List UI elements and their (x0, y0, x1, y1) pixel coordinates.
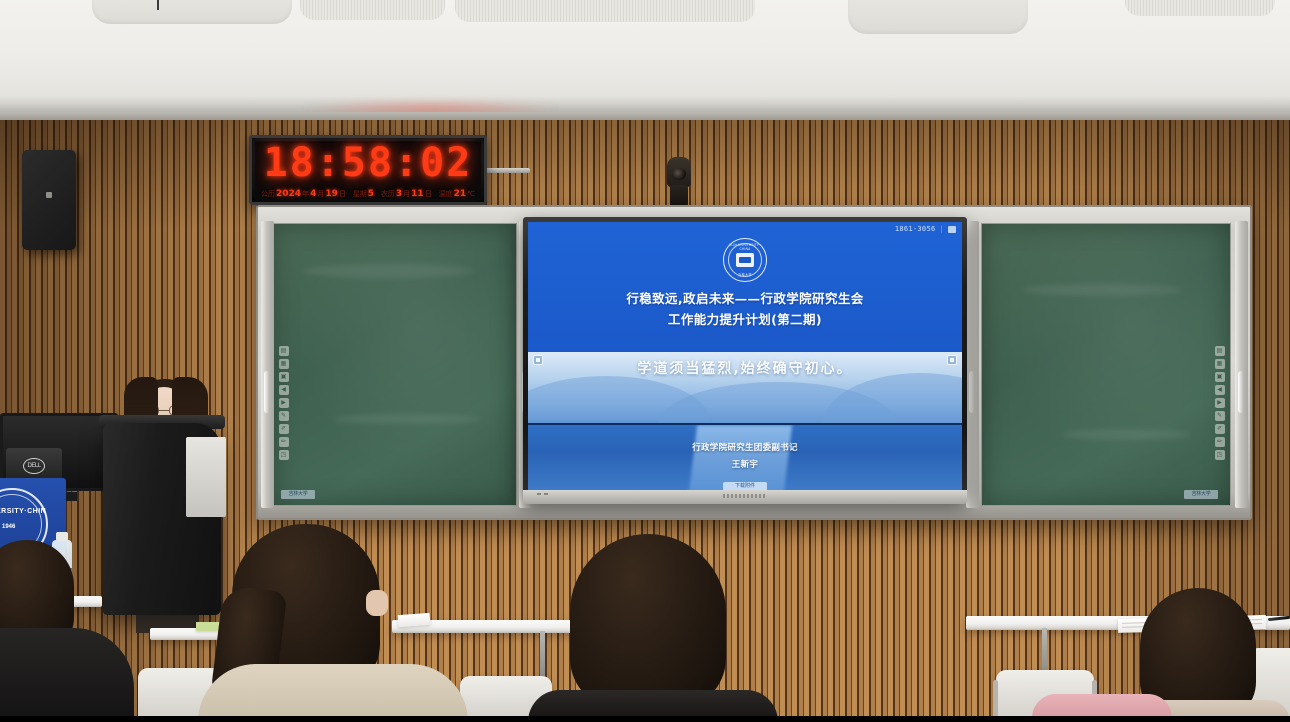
clock-weekday-label: 星期 (353, 189, 367, 199)
board-tool-icon-4[interactable]: ▶ (1215, 398, 1225, 408)
clock-display-panel: 18:58:02 公历 2024 年 4 月 19 日 星期 5 农历 3 (255, 141, 481, 199)
mountain-ridge (823, 373, 962, 424)
slide-title: 行稳致远,政启未来——行政学院研究生会 工作能力提升计划(第二期) (528, 288, 962, 330)
led-wall-clock: 18:58:02 公历 2024 年 4 月 19 日 星期 5 农历 3 (249, 135, 487, 205)
wall-camera (665, 157, 693, 209)
clock-temperature: 温度 21 ℃ (439, 189, 475, 199)
clock-weekday: 星期 5 (353, 189, 374, 199)
board-slide-handle[interactable] (1238, 371, 1244, 413)
screen-vent (723, 494, 767, 498)
board-tag-right: 吉林大学 (1184, 490, 1218, 499)
slide-presenter-name: 王新宇 (528, 457, 962, 474)
ceiling-vent (1125, 0, 1275, 16)
banner-seal-text: ERSITY·CHIN (0, 508, 46, 515)
clock-lunar-month: 3 (396, 189, 402, 199)
board-rail-far-left[interactable] (261, 221, 274, 508)
ceiling-panel (92, 0, 292, 24)
board-tool-icon-1[interactable]: ▦ (279, 359, 289, 369)
clock-lunar-day: 11 (411, 189, 424, 199)
wall-speaker (22, 150, 76, 250)
ceiling-hook (157, 0, 159, 10)
chalkboard-right: ▤ ▦ ▣ ◀ ▶ ✎ ✐ ✏ ◳ 吉林大学 (981, 223, 1231, 506)
dell-logo-icon: DELL (23, 458, 45, 474)
board-tool-icon-8[interactable]: ◳ (1215, 450, 1225, 460)
ceiling-vent (455, 0, 755, 22)
board-rail-far-right[interactable] (1235, 221, 1248, 508)
audience-head (570, 534, 726, 710)
emblem-text-top: JILIN UNIVERSITY · CHINA (724, 243, 766, 251)
board-slide-handle[interactable] (969, 371, 975, 413)
board-tool-icon-5[interactable]: ✎ (1215, 411, 1225, 421)
audience-hand (366, 590, 388, 616)
camera-mount (670, 185, 688, 207)
clock-day: 19 (325, 189, 338, 199)
ceiling-vent (300, 0, 445, 20)
board-tool-icon-1[interactable]: ▦ (1215, 359, 1225, 369)
chalk-smudge (1022, 284, 1182, 296)
board-slide-handle[interactable] (264, 371, 270, 413)
clock-lunar-day-unit: 日 (425, 189, 432, 199)
screen-indicator-dots (537, 493, 548, 495)
chalk-smudge (333, 414, 483, 424)
slide-code-divider: | (939, 225, 944, 233)
screen-bottom-bar (523, 490, 967, 504)
board-tool-icon-5[interactable]: ✎ (279, 411, 289, 421)
table-leg (540, 631, 545, 677)
slide-presenter-role: 行政学院研究生团委副书记 (528, 440, 962, 457)
speaker-logo-icon (46, 192, 52, 198)
clock-month: 4 (310, 189, 316, 199)
board-tool-icon-0[interactable]: ▤ (279, 346, 289, 356)
audience-shoulders (198, 664, 468, 722)
chalkboard-left: ▤ ▦ ▣ ◀ ▶ ✎ ✐ ✏ ◳ 吉林大学 (272, 223, 517, 506)
classroom-scene: 18:58:02 公历 2024 年 4 月 19 日 星期 5 农历 3 (0, 0, 1290, 722)
slide-quote: 学道须当猛烈,始终确守初心。 (528, 358, 962, 378)
tissue-paper (398, 613, 431, 627)
chalk-smudge (303, 264, 473, 278)
screen-share-icon[interactable] (948, 226, 956, 233)
board-tool-icon-8[interactable]: ◳ (279, 450, 289, 460)
camera-lens-icon (672, 168, 686, 180)
clock-gregorian-label: 公历 (261, 189, 275, 199)
clock-time: 18:58:02 (255, 143, 481, 183)
clock-temp-unit: ℃ (467, 189, 475, 199)
university-emblem: JILIN UNIVERSITY · CHINA 吉林大学 (723, 238, 767, 282)
clock-lunar-month-unit: 月 (403, 189, 410, 199)
emblem-core-icon (736, 253, 754, 267)
chalk-smudge (1062, 429, 1192, 440)
bottle-cap (56, 532, 68, 541)
board-tool-icon-2[interactable]: ▣ (279, 372, 289, 382)
projection-screen[interactable]: 1861-3056 | JILIN UNIVERSITY · CHINA 吉林大… (523, 217, 967, 498)
glasses-bridge (159, 410, 169, 411)
clock-date-row: 公历 2024 年 4 月 19 日 星期 5 农历 3 月 11 (261, 185, 475, 203)
board-tool-strip[interactable]: ▤ ▦ ▣ ◀ ▶ ✎ ✐ ✏ ◳ (1214, 346, 1225, 460)
board-tool-icon-0[interactable]: ▤ (1215, 346, 1225, 356)
slide-presenter-area: 行政学院研究生团委副书记 王新宇 下载附件 (528, 423, 962, 493)
table-leg (1042, 628, 1047, 676)
board-tool-icon-7[interactable]: ✏ (279, 437, 289, 447)
clock-day-unit: 日 (339, 189, 346, 199)
clock-weekday-value: 5 (368, 189, 374, 199)
emblem-text-bottom: 吉林大学 (724, 272, 766, 277)
board-tool-icon-6[interactable]: ✐ (279, 424, 289, 434)
podium-side-panel (186, 437, 226, 517)
board-tag-left: 吉林大学 (281, 490, 315, 499)
board-rail-right-inner[interactable] (966, 221, 979, 508)
clock-gregorian-date: 公历 2024 年 4 月 19 日 (261, 189, 346, 199)
board-tool-icon-6[interactable]: ✐ (1215, 424, 1225, 434)
board-tool-icon-3[interactable]: ◀ (279, 385, 289, 395)
board-tool-icon-4[interactable]: ▶ (279, 398, 289, 408)
clock-year: 2024 (276, 189, 301, 199)
board-tool-icon-7[interactable]: ✏ (1215, 437, 1225, 447)
slide-title-line-1: 行稳致远,政启未来——行政学院研究生会 (528, 288, 962, 309)
slide-session-code-row: 1861-3056 | (895, 225, 956, 233)
clock-lunar-date: 农历 3 月 11 日 (381, 189, 432, 199)
clock-lunar-label: 农历 (381, 189, 395, 199)
board-tool-icon-2[interactable]: ▣ (1215, 372, 1225, 382)
clock-temp-label: 温度 (439, 189, 453, 199)
slide-presenter-block: 行政学院研究生团委副书记 王新宇 (528, 440, 962, 474)
board-tool-icon-3[interactable]: ◀ (1215, 385, 1225, 395)
slide-header-area: 1861-3056 | JILIN UNIVERSITY · CHINA 吉林大… (528, 222, 962, 352)
slide-quote-area: 学道须当猛烈,始终确守初心。 (528, 352, 962, 422)
banner-seal-year: 1946 (2, 524, 15, 530)
slide-surface[interactable]: 1861-3056 | JILIN UNIVERSITY · CHINA 吉林大… (528, 222, 962, 493)
clock-month-unit: 月 (317, 189, 324, 199)
clock-year-unit: 年 (302, 189, 309, 199)
slide-session-code: 1861-3056 (895, 225, 936, 233)
clock-temp-value: 21 (454, 189, 467, 199)
board-tool-strip[interactable]: ▤ ▦ ▣ ◀ ▶ ✎ ✐ ✏ ◳ (278, 346, 289, 460)
slide-title-line-2: 工作能力提升计划(第二期) (528, 309, 962, 330)
ceiling-panel (848, 0, 1028, 34)
frame-edge (0, 716, 1290, 722)
